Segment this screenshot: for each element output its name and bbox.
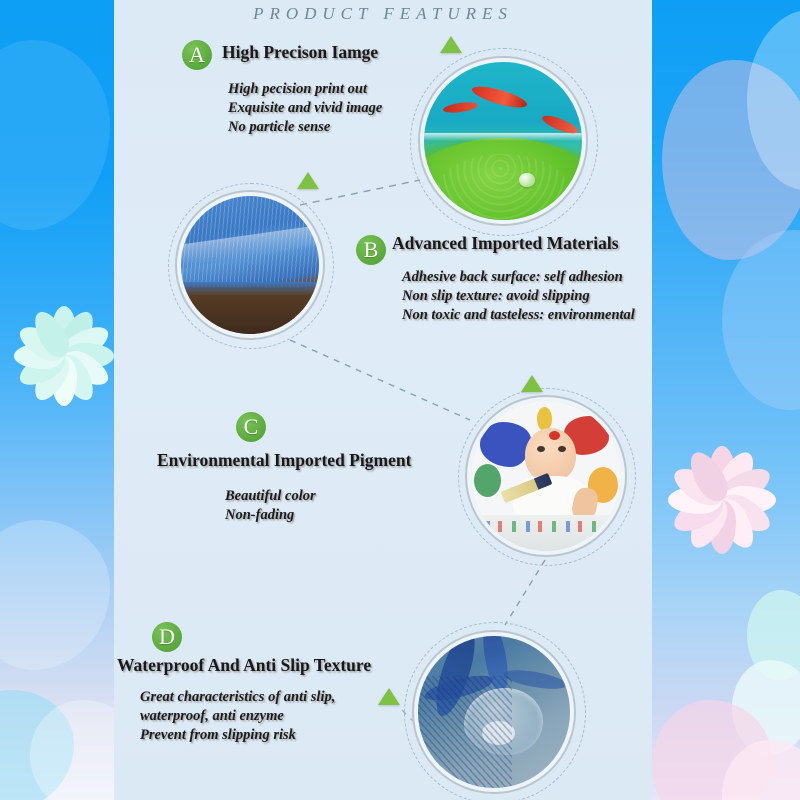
body-d-line-2: waterproof, anti enzyme <box>140 707 335 726</box>
body-c-line-1: Beautiful color <box>225 487 316 506</box>
connector-b-to-c <box>290 340 470 420</box>
body-b-line-3: Non toxic and tasteless: environmental <box>402 306 635 325</box>
infographic-canvas: PRODUCT FEATURES A High Precison Iamge H… <box>0 0 800 800</box>
heading-b: Advanced Imported Materials <box>392 233 619 254</box>
body-d: Great characteristics of anti slip, wate… <box>140 688 335 745</box>
arrow-to-photo-c <box>521 375 543 392</box>
heading-a: High Precison Iamge <box>222 42 378 63</box>
body-d-line-3: Prevent from slipping risk <box>140 726 335 745</box>
heading-d: Waterproof And Anti Slip Texture <box>117 655 371 676</box>
arrow-to-photo-a <box>440 36 462 53</box>
photo-waterproof-anti-slip <box>418 636 570 788</box>
badge-a: A <box>182 40 212 70</box>
body-a-line-2: Exquisite and vivid image <box>228 99 382 118</box>
photo-environmental-pigment <box>471 401 621 551</box>
badge-b: B <box>356 235 386 265</box>
badge-d: D <box>152 622 182 652</box>
body-a-line-1: High pecision print out <box>228 80 382 99</box>
body-c: Beautiful color Non-fading <box>225 487 316 525</box>
body-b: Adhesive back surface: self adhesion Non… <box>402 268 635 325</box>
body-b-line-2: Non slip texture: avoid slipping <box>402 287 635 306</box>
arrow-to-photo-b <box>297 172 319 189</box>
heading-c: Environmental Imported Pigment <box>157 450 411 471</box>
body-c-line-2: Non-fading <box>225 506 316 525</box>
photo-high-precision-image <box>424 62 582 220</box>
body-b-line-1: Adhesive back surface: self adhesion <box>402 268 635 287</box>
body-d-line-1: Great characteristics of anti slip, <box>140 688 335 707</box>
connector-lines <box>0 0 800 800</box>
badge-c: C <box>236 412 266 442</box>
photo-advanced-materials <box>181 196 319 334</box>
body-a-line-3: No particle sense <box>228 118 382 137</box>
arrow-to-photo-d <box>378 688 400 705</box>
body-a: High pecision print out Exquisite and vi… <box>228 80 382 137</box>
connector-c-to-d <box>505 560 545 625</box>
